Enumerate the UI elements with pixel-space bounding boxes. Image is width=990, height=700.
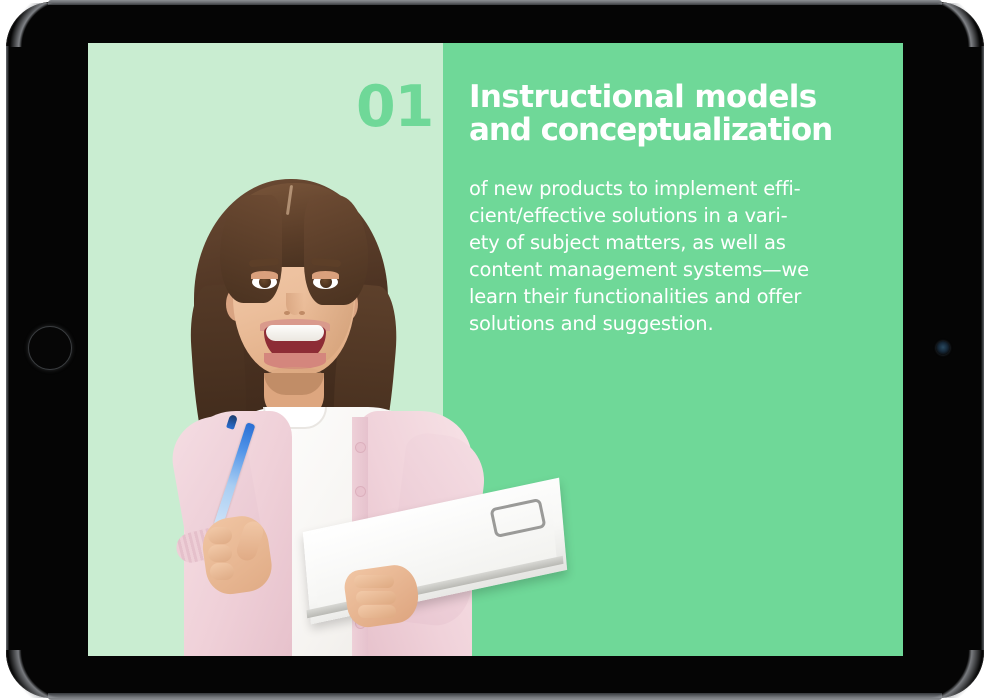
nostril-left [284, 311, 290, 315]
slide-body-line: solutions and suggestion. [469, 311, 879, 338]
tablet-bottom-edge-highlight [48, 693, 942, 700]
slide-body-line: cient/effective solutions in a vari- [469, 203, 879, 230]
tablet-top-right-corner-highlight [922, 3, 982, 47]
tablet-top-left-corner-highlight [8, 3, 68, 47]
home-button[interactable] [28, 326, 72, 370]
slide-number: 01 [356, 79, 433, 136]
slide-title: Instructional models and conceptualizati… [469, 81, 889, 147]
knuckle [208, 527, 232, 544]
slide-body-text: of new products to implement effi- cient… [469, 176, 879, 337]
slide-title-line-1: Instructional models [469, 79, 817, 115]
slide-body-line: ety of subject matters, as well as [469, 230, 879, 257]
tablet-screen: 01 Instructional models and conceptualiz… [88, 43, 903, 656]
tablet-top-edge-highlight [48, 0, 942, 5]
front-camera-icon [936, 341, 950, 355]
finger [358, 605, 396, 618]
tablet-device: 01 Instructional models and conceptualiz… [0, 0, 990, 700]
finger [354, 575, 394, 588]
slide-title-line-2: and conceptualization [469, 114, 889, 147]
slide-body-line: learn their functionalities and offer [469, 284, 879, 311]
cardigan-button [356, 487, 365, 496]
slide-body-line: of new products to implement effi- [469, 176, 879, 203]
tablet-bottom-left-corner-highlight [8, 650, 70, 698]
nostril-right [299, 311, 305, 315]
eyelid-right [312, 271, 339, 279]
cardigan-button [356, 443, 365, 452]
knuckle [210, 563, 234, 580]
eyelid-left [251, 271, 278, 279]
tablet-left-edge-highlight [6, 46, 9, 650]
tablet-right-edge-highlight [981, 46, 984, 650]
knuckle [208, 545, 232, 562]
slide-body-line: content management systems—we [469, 257, 879, 284]
finger [356, 591, 396, 604]
teeth [266, 325, 324, 341]
tablet-bottom-right-corner-highlight [920, 650, 982, 698]
